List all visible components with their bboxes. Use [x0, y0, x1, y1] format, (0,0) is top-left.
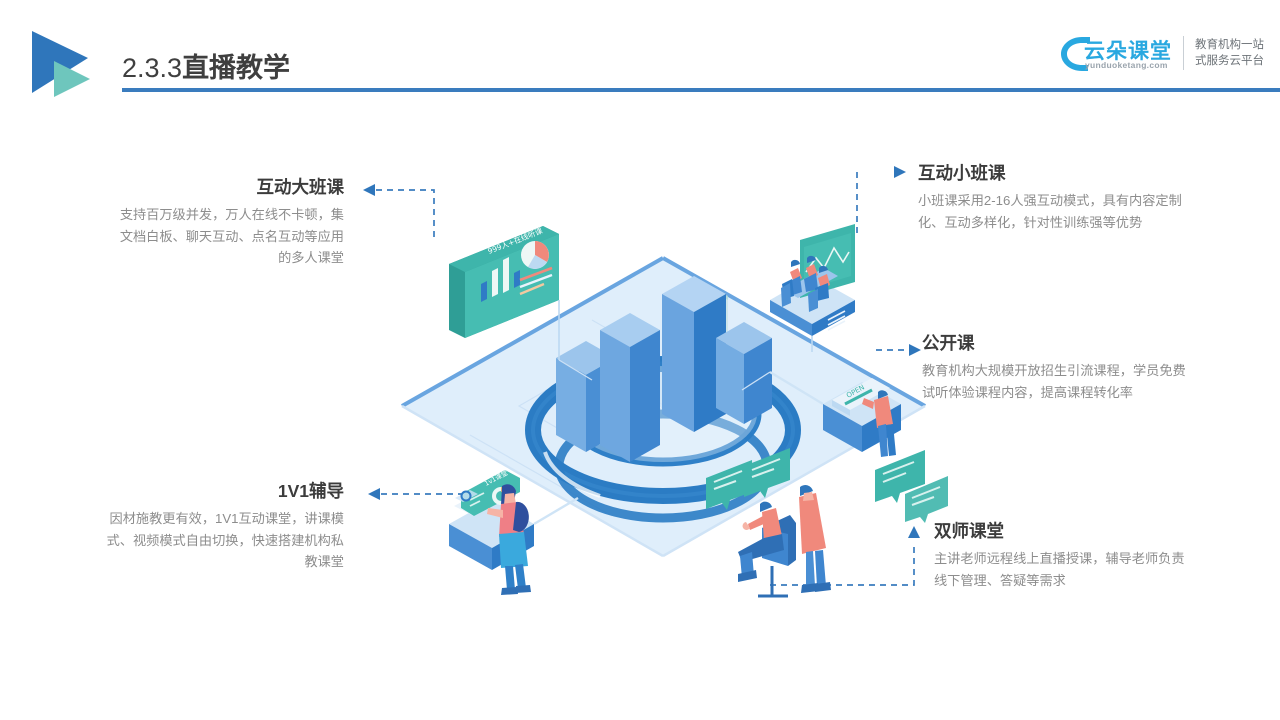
- dual-teacher-scene: [738, 485, 831, 596]
- callout-dual-teacher-desc: 主讲老师远程线上直播授课，辅导老师负责线下管理、答疑等需求: [934, 548, 1192, 591]
- platform-glass-panels: [612, 280, 728, 408]
- tower-2: [600, 313, 660, 462]
- tablet-screen-label: 1v1课堂: [483, 468, 510, 488]
- callout-small-class: 互动小班课 小班课采用2-16人强互动模式，具有内容定制化、互动多样化，针对性训…: [918, 162, 1186, 233]
- title-underline-divider: [122, 88, 1280, 92]
- open-class-presenter: [862, 390, 896, 457]
- isometric-platform: [402, 258, 925, 556]
- brand-tagline-line-1: 教育机构一站: [1195, 37, 1264, 53]
- callout-one-on-one-desc: 因材施教更有效，1V1互动课堂，讲课模式、视频模式自由切换，快速搭建机构私教课堂: [104, 508, 344, 573]
- callout-big-class-title: 互动大班课: [112, 176, 344, 198]
- callout-small-class-title: 互动小班课: [918, 162, 1186, 184]
- dashboard-pie: [521, 241, 549, 269]
- brand-domain: yunduoketang.com: [1085, 60, 1168, 70]
- arrow-left-icon-one-on-one: [368, 488, 380, 500]
- slide-canvas: 2.3.3直播教学 云朵课堂 yunduoketang.com 教育机构一站 式…: [0, 0, 1280, 720]
- platform-grid: [470, 320, 742, 516]
- callout-big-class-desc: 支持百万级并发，万人在线不卡顿，集文档白板、聊天互动、点名互动等应用的多人课堂: [112, 204, 344, 269]
- brand-divider: [1183, 36, 1184, 70]
- tower-3: [662, 276, 726, 432]
- platform-thin-links: [559, 360, 770, 390]
- connector-lines: [365, 172, 914, 585]
- whiteboard-label: OPEN: [845, 383, 866, 399]
- callout-one-on-one: 1V1辅导 因材施教更有效，1V1互动课堂，讲课模式、视频模式自由切换，快速搭建…: [104, 480, 344, 573]
- callout-big-class: 互动大班课 支持百万级并发，万人在线不卡顿，集文档白板、聊天互动、点名互动等应用…: [112, 176, 344, 269]
- callout-dual-teacher-title: 双师课堂: [934, 520, 1192, 542]
- arrow-up-icon-dual-teacher: [908, 526, 920, 538]
- slide-header: 2.3.3直播教学 云朵课堂 yunduoketang.com 教育机构一站 式…: [0, 0, 1280, 112]
- student-2: [804, 256, 818, 292]
- chat-bubble-2: [744, 448, 790, 498]
- platform-rings: [533, 364, 793, 518]
- tower-4: [716, 322, 772, 424]
- student-1: [782, 260, 802, 299]
- dashboard-bars: [481, 257, 520, 302]
- standing-teacher: [799, 485, 831, 593]
- callout-one-on-one-title: 1V1辅导: [104, 480, 344, 502]
- brand-tagline-line-2: 式服务云平台: [1195, 53, 1264, 69]
- connector-dual-teacher: [770, 547, 914, 585]
- callout-open-class-desc: 教育机构大规模开放招生引流课程，学员免费试听体验课程内容，提高课程转化率: [922, 360, 1188, 403]
- brand-cloud-block: 云朵课堂 yunduoketang.com: [1048, 28, 1176, 78]
- slide-number: 2.3.3: [122, 53, 182, 83]
- slide-title-text: 直播教学: [182, 53, 290, 83]
- dashboard-screen-label: 999人+在线听课: [486, 225, 544, 256]
- teacher-chair: [758, 515, 796, 596]
- play-triangle-logo-icon: [28, 27, 120, 97]
- brand-logo: 云朵课堂 yunduoketang.com 教育机构一站 式服务云平台: [1048, 26, 1264, 80]
- callout-dual-teacher: 双师课堂 主讲老师远程线上直播授课，辅导老师负责线下管理、答疑等需求: [934, 520, 1192, 591]
- connector-big-class: [365, 190, 434, 237]
- student-3: [815, 266, 830, 301]
- tablet-donut: [492, 487, 510, 505]
- side-badge-icon: [455, 490, 478, 502]
- isometric-towers: [556, 276, 772, 462]
- seated-teacher: [738, 502, 784, 582]
- small-class-scene: [770, 224, 855, 352]
- callout-open-class-title: 公开课: [922, 332, 1188, 354]
- arrow-right-icon-open-class: [909, 344, 921, 356]
- slab-stripes: [828, 311, 845, 330]
- callout-open-class: 公开课 教育机构大规模开放招生引流课程，学员免费试听体验课程内容，提高课程转化率: [922, 332, 1188, 403]
- chat-bubble-4: [905, 476, 948, 523]
- open-class-scene: OPEN: [770, 372, 901, 457]
- page-title: 2.3.3直播教学: [122, 46, 290, 85]
- one-on-one-scene: 1v1课堂: [449, 468, 578, 595]
- one-on-one-student: [487, 484, 531, 595]
- connector-arrowheads: [363, 166, 921, 538]
- chair-1: [781, 283, 791, 307]
- dashboard-legend-lines: [520, 268, 552, 294]
- dashboard-screen: 999人+在线听课: [449, 225, 559, 360]
- chat-bubbles: [706, 448, 948, 523]
- chair-2: [808, 289, 818, 312]
- arrow-right-icon-small-class: [894, 166, 906, 178]
- board-line-chart: [806, 248, 849, 272]
- callout-small-class-desc: 小班课采用2-16人强互动模式，具有内容定制化、互动多样化，针对性训练强等优势: [918, 190, 1186, 233]
- whiteboard-underline: [845, 390, 872, 404]
- arrow-left-icon-big-class: [363, 184, 375, 196]
- tower-1: [556, 341, 616, 452]
- tablet-lines: [470, 493, 484, 506]
- chat-bubble-3: [875, 450, 925, 503]
- brand-tagline: 教育机构一站 式服务云平台: [1195, 37, 1264, 69]
- chat-bubble-1: [706, 460, 752, 510]
